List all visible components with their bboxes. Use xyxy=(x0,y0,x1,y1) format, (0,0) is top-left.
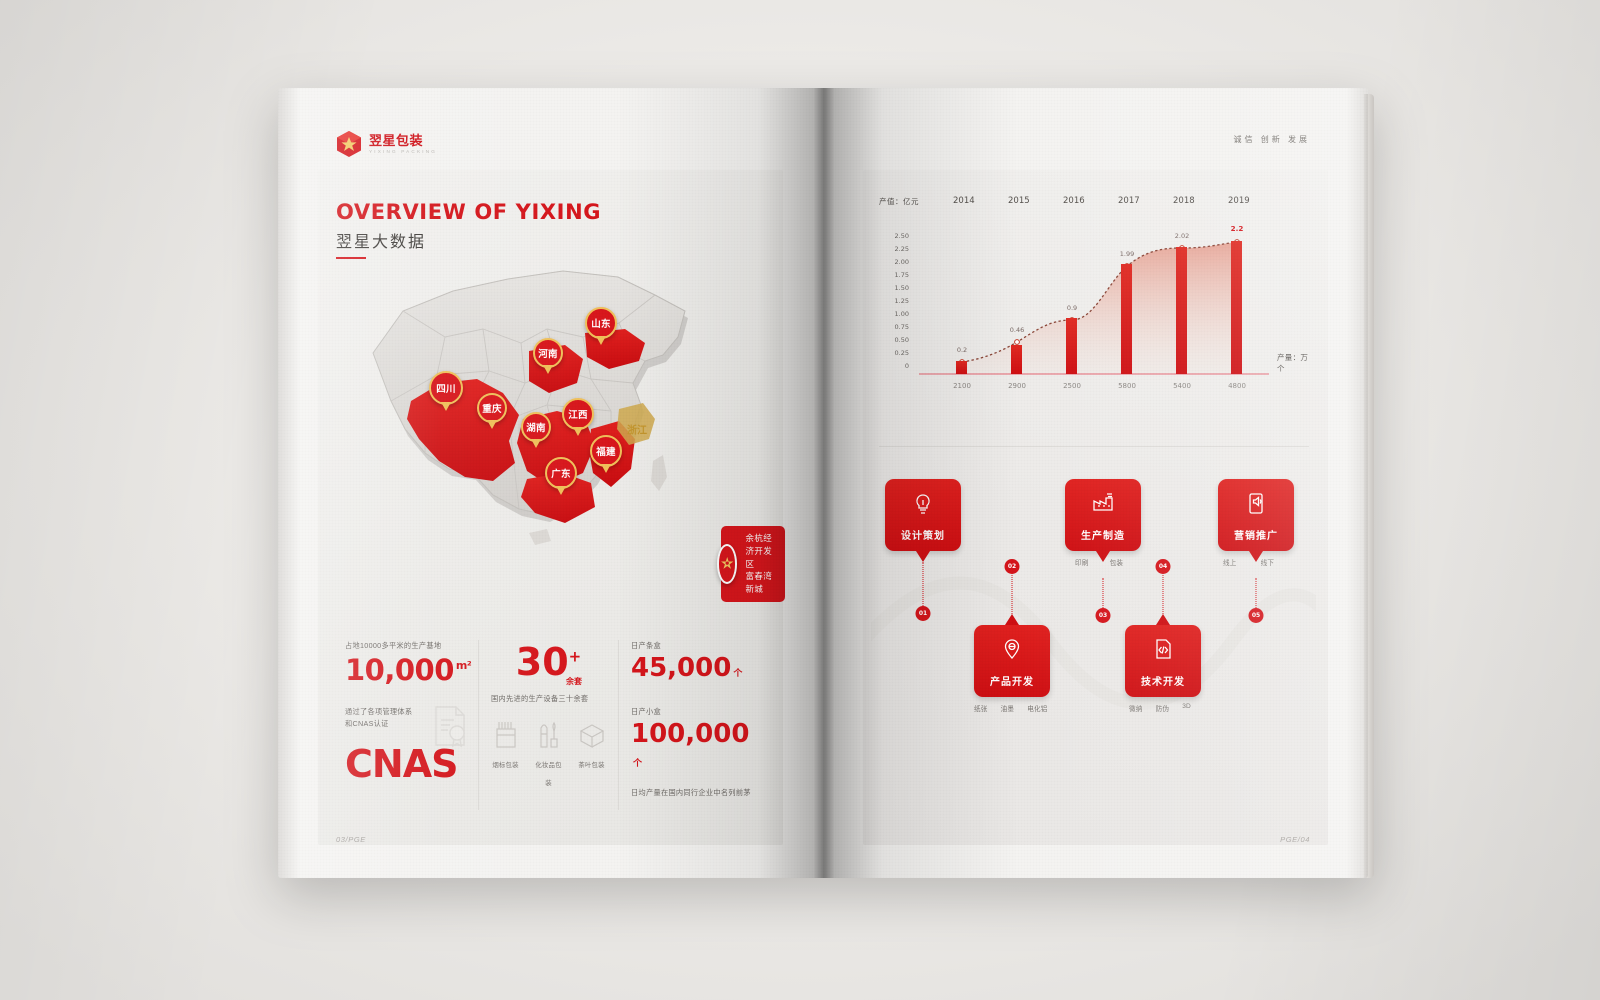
chart-xtick-2017: 5800 xyxy=(1118,382,1136,390)
flow-sub-label: 微纳 xyxy=(1129,703,1143,713)
chart-year-2017: 2017 xyxy=(1118,196,1140,206)
pin-label: 山东 xyxy=(591,316,611,330)
star-badge-icon xyxy=(717,544,737,584)
lipstick-icon xyxy=(534,719,563,749)
right-page: 诚信 创新 发展 产值：亿元 2014 2015 2016 2017 2018 … xyxy=(823,88,1368,878)
hexagon-star-logo-icon xyxy=(336,130,362,158)
stat-output-unit-b: 个 xyxy=(633,759,642,769)
map-hainan xyxy=(529,529,551,545)
stat-area-unit: m² xyxy=(456,659,471,672)
folio-right: PGE/04 xyxy=(1280,835,1310,844)
code-document-icon xyxy=(1152,638,1174,667)
chart-ytick: 0.25 xyxy=(885,349,909,357)
stat-output-caption-a: 日产条盒 xyxy=(631,640,756,652)
china-map: 山东 河南 四川 重庆 湖南 xyxy=(333,233,753,623)
stat-area-value: 10,000 xyxy=(345,653,454,687)
chart-bar-2014 xyxy=(956,361,967,374)
product-label: 化妆品包装 xyxy=(535,762,561,787)
product-item: 烟标包装 xyxy=(491,719,520,790)
product-label: 茶叶包装 xyxy=(578,762,604,769)
stat-equipment-block: 30+ 余套 国内先进的生产设备三十余套 xyxy=(478,640,618,810)
pin-label: 福建 xyxy=(596,444,616,458)
chart-year-2016: 2016 xyxy=(1063,196,1085,206)
chart-year-2015: 2015 xyxy=(1008,196,1030,206)
stats-strip: 占地10000多平米的生产基地 10,000m² 通过了各项管理体系 和CNAS… xyxy=(333,640,768,810)
flow-step-05: 05 xyxy=(1249,608,1264,623)
flow-step-01: 01 xyxy=(916,606,931,621)
chart-ytick: 1.50 xyxy=(885,284,909,292)
chart-ytick: 1.25 xyxy=(885,297,909,305)
pin-label: 重庆 xyxy=(482,401,502,415)
certificate-seal-icon xyxy=(430,704,470,753)
factory-machine-icon xyxy=(1091,492,1115,519)
product-label: 烟标包装 xyxy=(492,762,518,769)
flow-subs-marketing: 线上 线下 xyxy=(1223,557,1274,567)
chart-bar-2018 xyxy=(1176,247,1187,374)
flow-card-design[interactable]: 设计策划 xyxy=(885,479,961,551)
chart-ytick: 0.50 xyxy=(885,336,909,344)
flow-card-marketing[interactable]: 营销推广 xyxy=(1218,479,1294,551)
chart-bar-2015 xyxy=(1011,345,1022,374)
chart-plot-area: 0.2 0.46 0.9 1.99 2.02 2.2 2100 2900 250… xyxy=(919,224,1269,374)
chart-ytick: 1.75 xyxy=(885,271,909,279)
page-title-en: OVERVIEW OF YIXING xyxy=(336,200,601,224)
stat-area-caption: 占地10000多平米的生产基地 xyxy=(345,640,466,652)
chart-xtick-2016: 2500 xyxy=(1063,382,1081,390)
chart-xtick-2014: 2100 xyxy=(953,382,971,390)
map-taiwan xyxy=(651,455,667,491)
tea-box-icon xyxy=(577,719,606,749)
flow-sub-label: 纸张 xyxy=(974,703,988,713)
flow-step-03: 03 xyxy=(1096,608,1111,623)
flow-sub-label: 线上 xyxy=(1223,557,1237,567)
flow-card-label: 营销推广 xyxy=(1234,527,1278,542)
stat-output-caption-b: 日产小盒 xyxy=(631,706,756,718)
map-pin-sichuan[interactable]: 四川 xyxy=(429,371,463,411)
hq-line-1: 余杭经济开发区 xyxy=(745,532,773,570)
flow-step-02: 02 xyxy=(1005,559,1020,574)
stat-output-unit-a: 个 xyxy=(733,669,742,679)
chart-ylabel: 产值：亿元 xyxy=(879,196,919,207)
flow-card-technology[interactable]: 技术开发 xyxy=(1125,625,1201,697)
flow-sub-label: 油墨 xyxy=(1001,703,1015,713)
stat-output-footnote: 日均产量在国内同行企业中名列前茅 xyxy=(631,787,756,799)
chart-ytick: 0 xyxy=(885,362,909,370)
flow-card-product[interactable]: 产品开发 xyxy=(974,625,1050,697)
cigarette-pack-icon xyxy=(491,719,520,749)
flow-sub-label: 3D xyxy=(1182,703,1191,713)
map-pin-guangdong[interactable]: 广东 xyxy=(545,457,577,495)
chart-value-2015: 0.46 xyxy=(1010,326,1024,334)
map-pin-hunan[interactable]: 湖南 xyxy=(521,412,551,448)
chart-ytick: 0.75 xyxy=(885,323,909,331)
chart-value-2016: 0.9 xyxy=(1067,304,1077,312)
product-icon-list: 烟标包装 xyxy=(491,719,606,790)
chart-ytick: 2.00 xyxy=(885,258,909,266)
magazine-spread: 翌星包装 YIXING PACKING OVERVIEW OF YIXING 翌… xyxy=(278,88,1368,878)
pin-label: 四川 xyxy=(436,381,456,395)
map-label-zhejiang: 浙江 xyxy=(627,422,647,437)
chart-ytick: 2.50 xyxy=(885,232,909,240)
chart-bar-2017 xyxy=(1121,264,1132,374)
flow-card-label: 产品开发 xyxy=(990,673,1034,688)
stat-output-value-a: 45,000 xyxy=(631,653,731,683)
pin-label: 江西 xyxy=(568,407,588,421)
chart-value-2019: 2.2 xyxy=(1231,224,1244,233)
brand-name-en: YIXING PACKING xyxy=(369,150,437,155)
headquarters-marker[interactable]: 余杭经济开发区 富春湾新城 xyxy=(717,526,785,602)
pin-label: 湖南 xyxy=(526,420,546,434)
page-tagline: 诚信 创新 发展 xyxy=(1234,134,1310,145)
stat-output-value-b: 100,000 xyxy=(631,719,749,749)
flow-sub-label: 线下 xyxy=(1261,557,1275,567)
brand-logo: 翌星包装 YIXING PACKING xyxy=(336,130,437,158)
chart-year-2019: 2019 xyxy=(1228,196,1250,206)
hq-line-2: 富春湾新城 xyxy=(745,570,773,596)
flow-step-04: 04 xyxy=(1156,559,1171,574)
chart-xtick-2015: 2900 xyxy=(1008,382,1026,390)
chart-xtick-2019: 4800 xyxy=(1228,382,1246,390)
product-item: 茶叶包装 xyxy=(577,719,606,790)
flow-sub-label: 电化铝 xyxy=(1027,703,1047,713)
map-pin-henan[interactable]: 河南 xyxy=(533,338,563,374)
flow-subs-technology: 微纳 防伪 3D xyxy=(1129,703,1191,713)
map-pin-shandong[interactable]: 山东 xyxy=(585,307,617,345)
section-divider xyxy=(879,446,1309,447)
flow-card-label: 技术开发 xyxy=(1141,673,1185,688)
chart-trend-overlay xyxy=(919,224,1269,376)
flow-card-label: 生产制造 xyxy=(1081,527,1125,542)
chart-bar-2016 xyxy=(1066,318,1077,374)
process-flow-diagram: 设计策划 01 产品开发 xyxy=(871,473,1316,763)
flow-sub-label: 包装 xyxy=(1110,557,1124,567)
mobile-megaphone-icon xyxy=(1245,492,1267,521)
map-pin-fujian[interactable]: 福建 xyxy=(590,435,622,473)
stat-equipment-caption: 国内先进的生产设备三十余套 xyxy=(491,693,606,705)
chart-bar-2019 xyxy=(1231,241,1242,374)
brand-name-cn: 翌星包装 xyxy=(369,134,437,147)
chart-year-2018: 2018 xyxy=(1173,196,1195,206)
flow-subs-manufacture: 印刷 包装 xyxy=(1075,557,1123,567)
map-pin-jiangxi[interactable]: 江西 xyxy=(562,398,594,436)
flow-sub-label: 印刷 xyxy=(1075,557,1089,567)
chart-xtick-2018: 5400 xyxy=(1173,382,1191,390)
chart-xlabel: 产量：万个 xyxy=(1277,352,1309,374)
stat-equipment-superscript: + xyxy=(569,647,582,665)
chart-ytick: 2.25 xyxy=(885,245,909,253)
flow-sub-label: 防伪 xyxy=(1156,703,1170,713)
flow-card-label: 设计策划 xyxy=(901,527,945,542)
pin-label: 广东 xyxy=(551,466,571,480)
location-gear-icon xyxy=(1001,638,1023,667)
lightbulb-idea-icon xyxy=(912,492,934,521)
flow-card-manufacture[interactable]: 生产制造 xyxy=(1065,479,1141,551)
map-pin-chongqing[interactable]: 重庆 xyxy=(477,393,507,429)
folio-left: 03/PGE xyxy=(336,835,366,844)
chart-value-2017: 1.99 xyxy=(1120,250,1134,258)
stat-output-block: 日产条盒 45,000个 日产小盒 100,000个 日均产量在国内同行企业中名… xyxy=(618,640,768,810)
left-page: 翌星包装 YIXING PACKING OVERVIEW OF YIXING 翌… xyxy=(278,88,823,878)
chart-value-2014: 0.2 xyxy=(957,346,967,354)
product-item: 化妆品包装 xyxy=(534,719,563,790)
stat-equipment-value: 30 xyxy=(516,640,569,684)
stat-area-block: 占地10000多平米的生产基地 10,000m² 通过了各项管理体系 和CNAS… xyxy=(333,640,478,810)
flow-subs-product: 纸张 油墨 电化铝 xyxy=(974,703,1048,713)
production-value-chart: 产值：亿元 2014 2015 2016 2017 2018 2019 2.50… xyxy=(879,196,1309,416)
chart-value-2018: 2.02 xyxy=(1175,232,1189,240)
pin-label: 河南 xyxy=(538,346,558,360)
chart-year-2014: 2014 xyxy=(953,196,975,206)
chart-ytick: 1.00 xyxy=(885,310,909,318)
